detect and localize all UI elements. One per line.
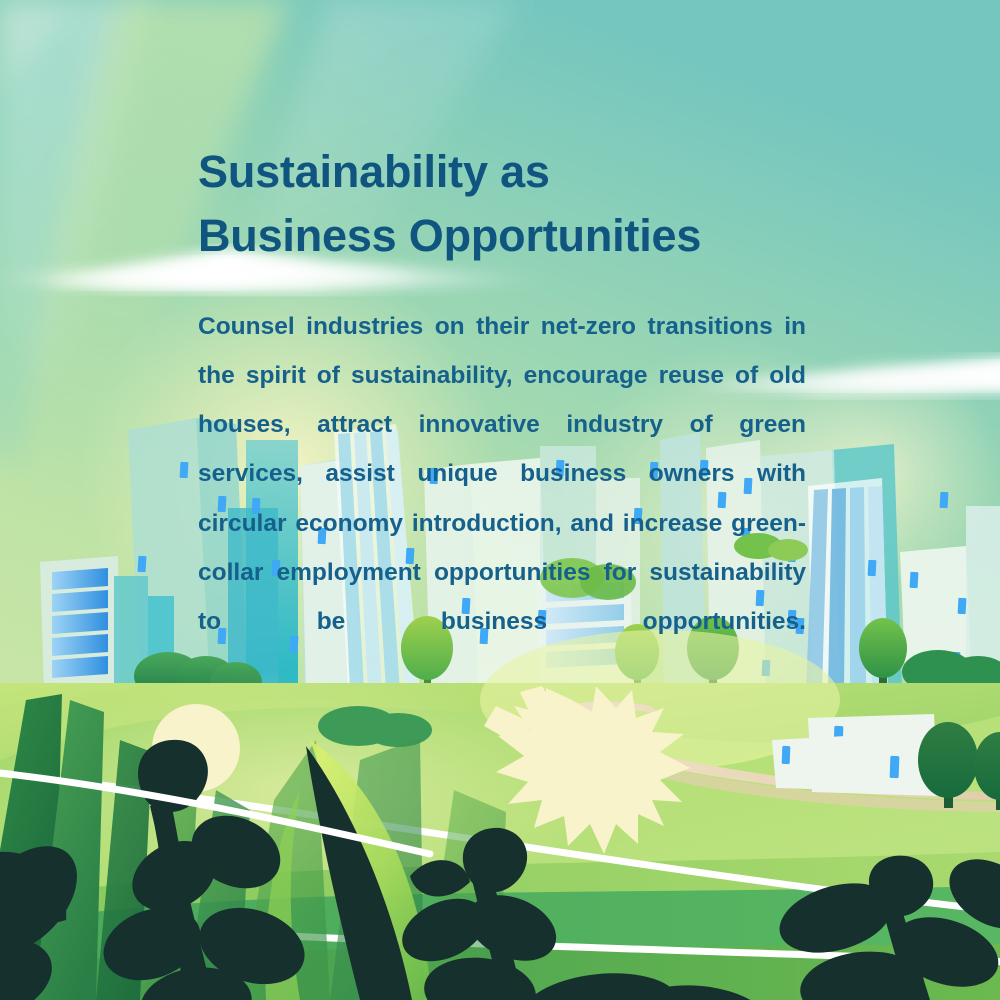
text-content-block: Sustainability as Business Opportunities… bbox=[198, 140, 806, 696]
page-body-paragraph: Counsel industries on their net-zero tra… bbox=[198, 302, 806, 696]
silhouette-foliage-group bbox=[0, 740, 1000, 1000]
page-title: Sustainability as Business Opportunities bbox=[198, 140, 806, 268]
flower-bud-icon bbox=[463, 828, 527, 892]
poster-canvas: Sustainability as Business Opportunities… bbox=[0, 0, 1000, 1000]
flower-icon bbox=[484, 686, 690, 854]
